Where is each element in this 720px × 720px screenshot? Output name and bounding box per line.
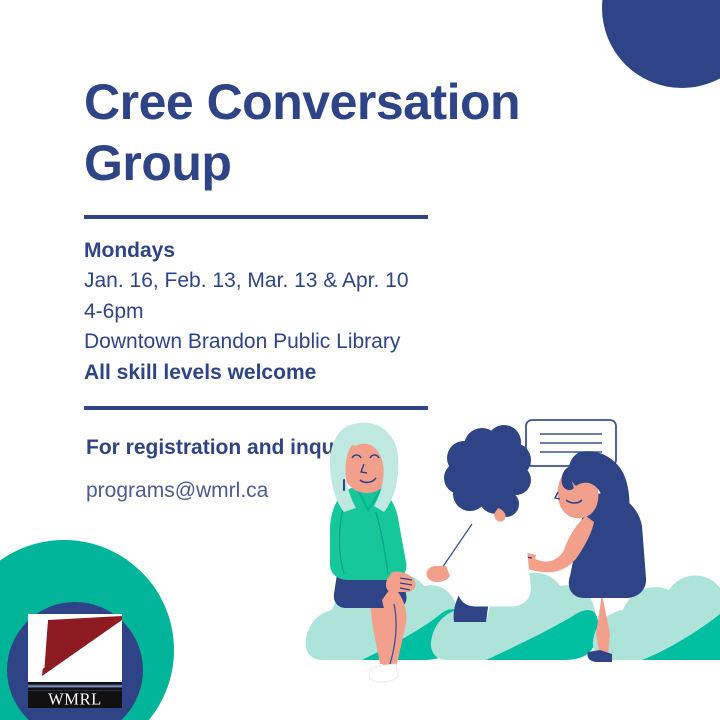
wmrl-logo[interactable]: WMRL	[28, 614, 122, 708]
logo-stripe-2	[28, 685, 122, 687]
page-title-line-1: Cree Conversation	[84, 74, 520, 130]
detail-line-location: Downtown Brandon Public Library	[84, 327, 554, 357]
detail-line-skill-level: All skill levels welcome	[84, 358, 554, 388]
page-title: Cree ConversationGroup	[84, 72, 604, 194]
conversation-illustration	[300, 408, 720, 720]
detail-line-weekday: Mondays	[84, 236, 554, 266]
event-details-block: Mondays Jan. 16, Feb. 13, Mar. 13 & Apr.…	[84, 236, 554, 388]
detail-line-time: 4-6pm	[84, 297, 554, 327]
navy-corner-circle-decoration	[602, 0, 720, 88]
logo-stripe-1	[28, 682, 122, 684]
person-left-shoe	[369, 664, 398, 682]
logo-wordmark-text: WMRL	[48, 690, 102, 709]
detail-line-dates: Jan. 16, Feb. 13, Mar. 13 & Apr. 10	[84, 266, 554, 296]
page-title-line-2: Group	[84, 135, 231, 191]
person-left-hands	[386, 571, 416, 592]
person-middle-hair	[444, 425, 531, 517]
poster-canvas: Cree ConversationGroup Mondays Jan. 16, …	[0, 0, 720, 720]
divider-top	[84, 215, 428, 219]
person-middle-hand	[427, 566, 450, 582]
